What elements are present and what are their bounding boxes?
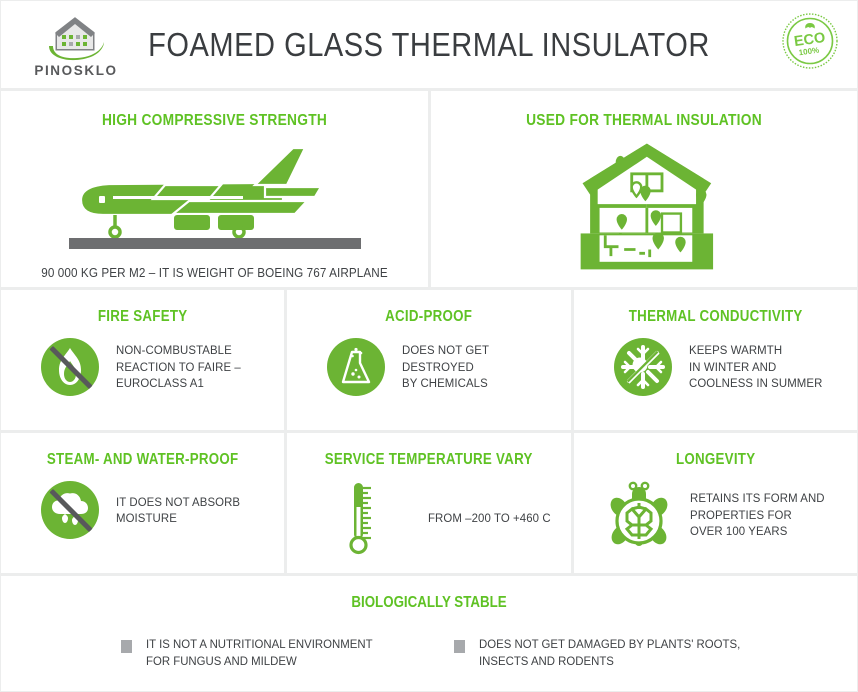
card-title: HIGH COMPRESSIVE STRENGTH bbox=[31, 91, 398, 130]
house-cross-section-icon bbox=[547, 136, 742, 276]
feature-row-1: FIRE SAFETY NON-COMBUSTABLE REACTION TO … bbox=[1, 290, 857, 430]
card-text: NON-COMBUSTABLE REACTION TO FAIRE – EURO… bbox=[116, 342, 241, 392]
card-acid-proof[interactable]: ACID-PROOF DOES NOT GET DESTROYED BY CHE… bbox=[287, 290, 570, 430]
sun-snowflake-icon bbox=[614, 338, 672, 396]
thermometer-glyph bbox=[348, 481, 374, 555]
flask-icon bbox=[327, 338, 385, 396]
list-item: IT IS NOT A NUTRITIONAL ENVIRONMENT FOR … bbox=[121, 636, 392, 669]
card-title: SERVICE TEMPERATURE VARY bbox=[307, 433, 551, 469]
square-bullet-icon bbox=[454, 640, 465, 653]
page-header: PINOSKLO FOAMED GLASS THERMAL INSULATOR … bbox=[1, 1, 857, 88]
infographic-page: PINOSKLO FOAMED GLASS THERMAL INSULATOR … bbox=[0, 0, 858, 692]
card-body: RETAINS ITS FORM AND PROPERTIES FOR OVER… bbox=[574, 469, 857, 549]
card-title: USED FOR THERMAL INSULATION bbox=[461, 91, 827, 130]
feature-row-2: STEAM- AND WATER-PROOF IT DOES NOT ABSOR… bbox=[1, 433, 857, 573]
card-text: FROM –200 TO +460 C bbox=[428, 510, 551, 527]
card-text: RETAINS ITS FORM AND PROPERTIES FOR OVER… bbox=[690, 490, 825, 540]
top-row: HIGH COMPRESSIVE STRENGTH bbox=[1, 91, 857, 287]
card-longevity[interactable]: LONGEVITY bbox=[574, 433, 857, 573]
card-title: ACID-PROOF bbox=[307, 290, 551, 326]
card-body: IT DOES NOT ABSORB MOISTURE bbox=[1, 469, 284, 539]
turtle-glyph bbox=[608, 481, 670, 549]
turtle-icon bbox=[608, 481, 670, 549]
card-body: DOES NOT GET DESTROYED BY CHEMICALS bbox=[287, 326, 570, 396]
no-rain-cloud-icon bbox=[41, 481, 99, 539]
square-bullet-icon bbox=[121, 640, 132, 653]
card-title: THERMAL CONDUCTIVITY bbox=[593, 290, 837, 326]
gray-ground-bar bbox=[69, 238, 361, 249]
card-text: KEEPS WARMTH IN WINTER AND COOLNESS IN S… bbox=[689, 342, 822, 392]
card-biologically-stable[interactable]: BIOLOGICALLY STABLE IT IS NOT A NUTRITIO… bbox=[1, 576, 857, 691]
house-illustration bbox=[431, 136, 857, 276]
airplane-icon bbox=[69, 144, 361, 240]
card-title: LONGEVITY bbox=[593, 433, 837, 469]
card-caption: 90 000 KG PER M2 – IT IS WEIGHT OF BOEIN… bbox=[22, 265, 406, 280]
card-text: DOES NOT GET DESTROYED BY CHEMICALS bbox=[402, 342, 557, 392]
card-body: NON-COMBUSTABLE REACTION TO FAIRE – EURO… bbox=[1, 326, 284, 396]
card-service-temperature-vary[interactable]: SERVICE TEMPERATURE VARY bbox=[287, 433, 570, 573]
card-fire-safety[interactable]: FIRE SAFETY NON-COMBUSTABLE REACTION TO … bbox=[1, 290, 284, 430]
card-steam-and-water-proof[interactable]: STEAM- AND WATER-PROOF IT DOES NOT ABSOR… bbox=[1, 433, 284, 573]
svg-text:100%: 100% bbox=[798, 46, 820, 58]
thermometer-icon bbox=[332, 481, 390, 555]
brand-logo[interactable]: PINOSKLO bbox=[1, 1, 151, 88]
page-title: FOAMED GLASS THERMAL INSULATOR bbox=[52, 26, 805, 64]
card-used-for-thermal-insulation[interactable]: USED FOR THERMAL INSULATION bbox=[431, 91, 857, 287]
card-text: IT DOES NOT ABSORB MOISTURE bbox=[116, 494, 240, 527]
card-title: FIRE SAFETY bbox=[21, 290, 265, 326]
bullet-text: DOES NOT GET DAMAGED BY PLANTS' ROOTS, I… bbox=[479, 636, 740, 669]
eco-leaf-stamp-icon: ECO 100% bbox=[781, 12, 839, 70]
card-high-compressive-strength[interactable]: HIGH COMPRESSIVE STRENGTH bbox=[1, 91, 428, 287]
card-body: KEEPS WARMTH IN WINTER AND COOLNESS IN S… bbox=[574, 326, 857, 396]
list-item: DOES NOT GET DAMAGED BY PLANTS' ROOTS, I… bbox=[454, 636, 763, 669]
card-body: FROM –200 TO +460 C bbox=[287, 469, 570, 555]
house-with-swoosh-logo-icon bbox=[45, 16, 107, 62]
no-flame-icon bbox=[41, 338, 99, 396]
bullet-list: IT IS NOT A NUTRITIONAL ENVIRONMENT FOR … bbox=[1, 636, 857, 669]
brand-name: PINOSKLO bbox=[34, 63, 117, 78]
card-thermal-conductivity[interactable]: THERMAL CONDUCTIVITY bbox=[574, 290, 857, 430]
bullet-text: IT IS NOT A NUTRITIONAL ENVIRONMENT FOR … bbox=[146, 636, 373, 669]
sun-snowflake-glyph bbox=[620, 344, 666, 390]
card-title: STEAM- AND WATER-PROOF bbox=[21, 433, 265, 469]
airplane-illustration bbox=[1, 144, 428, 249]
flask-glyph bbox=[339, 347, 373, 387]
card-title: BIOLOGICALLY STABLE bbox=[61, 594, 797, 612]
